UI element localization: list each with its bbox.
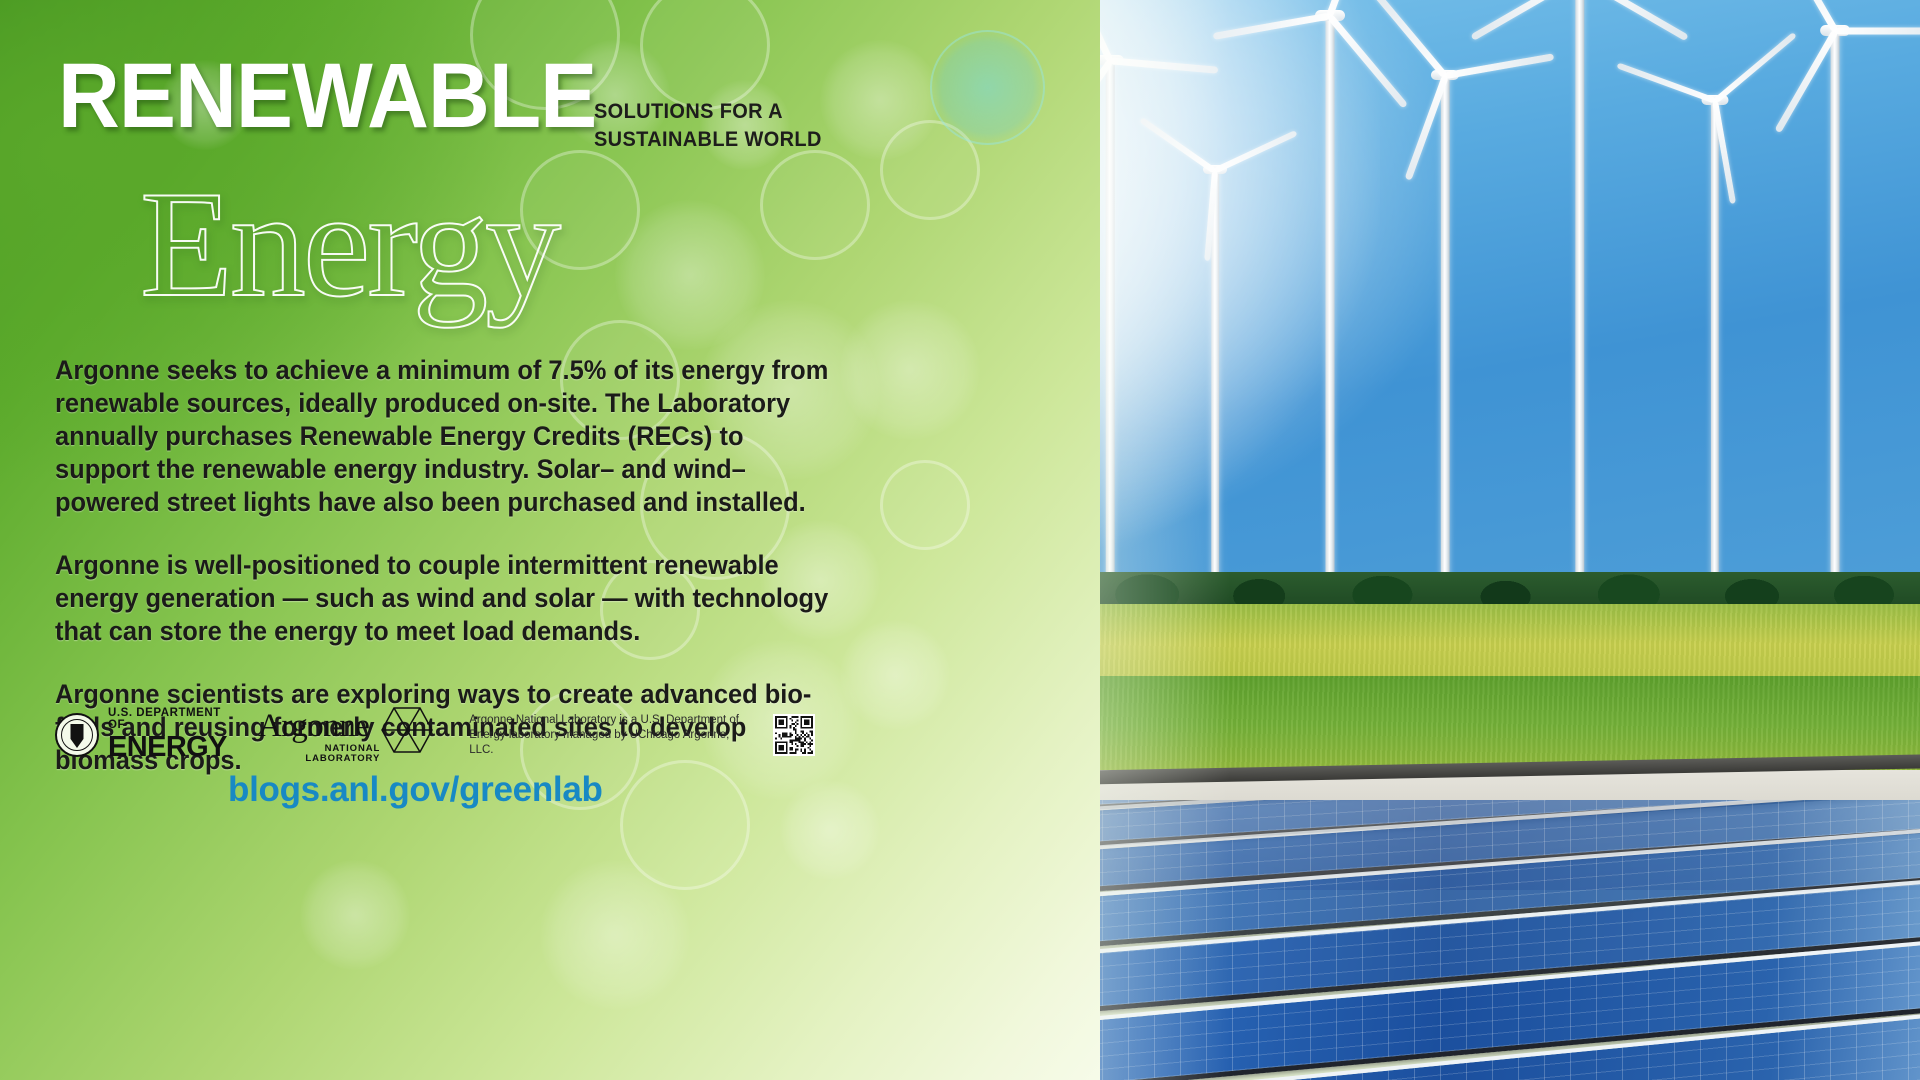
argonne-hexagon-icon xyxy=(381,707,433,753)
bokeh-circle xyxy=(820,40,940,160)
turbine-mast xyxy=(1831,25,1840,617)
bokeh-circle xyxy=(930,30,1045,145)
wind-turbine xyxy=(1696,25,1920,617)
doe-seal-icon xyxy=(55,713,99,757)
argonne-logo: Argonne NATIONAL LABORATORY xyxy=(258,707,433,763)
disclaimer-line-1: Argonne National Laboratory is a U.S. De… xyxy=(469,713,739,728)
turbine-blade xyxy=(1774,29,1838,133)
bokeh-circle xyxy=(620,760,750,890)
bokeh-circle xyxy=(780,780,880,880)
logo-row: U.S. DEPARTMENT OF ENERGY Argonne NATION… xyxy=(55,705,815,765)
page-title: RENEWABLE xyxy=(58,52,596,140)
turbine-mast xyxy=(1575,0,1584,618)
qr-code-icon[interactable] xyxy=(773,714,815,756)
poster-canvas: RENEWABLE SOLUTIONS FOR A SUSTAINABLE WO… xyxy=(0,0,1920,1080)
doe-energy-label: ENERGY xyxy=(108,733,230,762)
argonne-name-label: Argonne xyxy=(258,710,380,743)
tagline: SOLUTIONS FOR A SUSTAINABLE WORLD xyxy=(594,98,822,153)
turbine-blade xyxy=(1471,0,1582,41)
doe-logo: U.S. DEPARTMENT OF ENERGY xyxy=(55,708,230,762)
bokeh-circle xyxy=(840,620,950,730)
tagline-line-2: SUSTAINABLE WORLD xyxy=(594,126,822,154)
turbine-blade xyxy=(1578,0,1689,41)
bokeh-circle xyxy=(760,150,870,260)
footer: U.S. DEPARTMENT OF ENERGY Argonne NATION… xyxy=(55,705,815,765)
bokeh-circle xyxy=(300,860,410,970)
argonne-sub-label: NATIONAL LABORATORY xyxy=(258,744,380,763)
website-url[interactable]: blogs.anl.gov/greenlab xyxy=(228,770,603,810)
bokeh-circle xyxy=(880,460,970,550)
disclaimer-text: Argonne National Laboratory is a U.S. De… xyxy=(469,713,739,758)
argonne-wordmark: Argonne NATIONAL LABORATORY xyxy=(258,710,380,763)
paragraph-2: Argonne is well-positioned to couple int… xyxy=(55,549,835,648)
disclaimer-line-2: Energy laboratory managed by UChicago Ar… xyxy=(469,728,739,758)
bokeh-circle xyxy=(640,0,770,110)
bokeh-circle xyxy=(880,120,980,220)
doe-wordmark: U.S. DEPARTMENT OF ENERGY xyxy=(108,708,230,762)
paragraph-1: Argonne seeks to achieve a minimum of 7.… xyxy=(55,354,835,519)
bokeh-circle xyxy=(615,200,765,350)
bokeh-circle xyxy=(840,300,980,440)
subtitle-energy: Energy xyxy=(140,168,558,320)
bokeh-circle xyxy=(540,860,690,1010)
doe-department-label: U.S. DEPARTMENT OF xyxy=(108,708,230,731)
turbine-blade xyxy=(1835,28,1920,35)
tagline-line-1: SOLUTIONS FOR A xyxy=(594,98,822,126)
